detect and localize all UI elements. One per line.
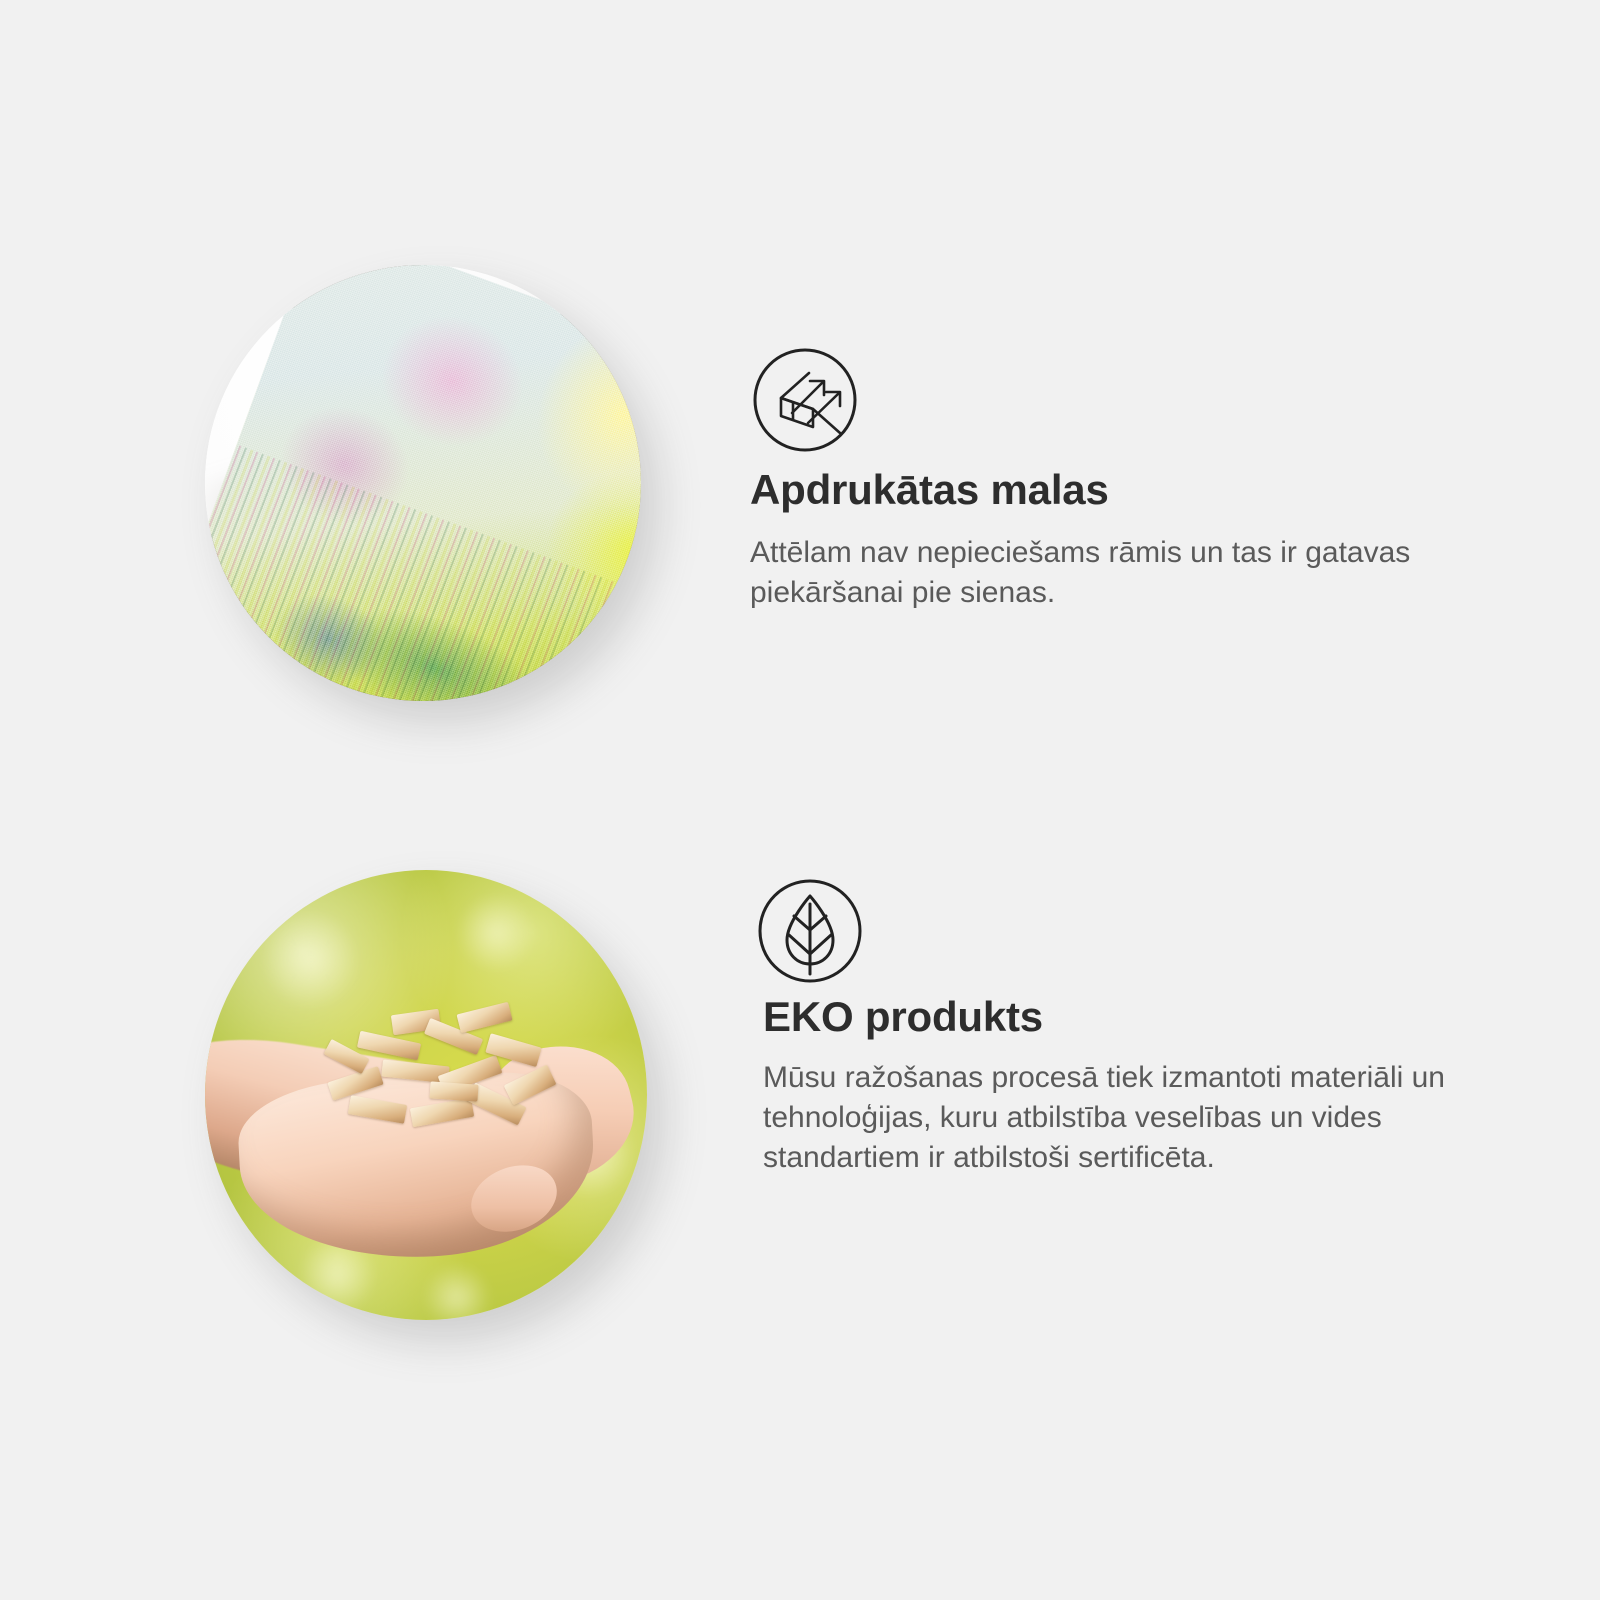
wood-chip [504, 1065, 556, 1105]
feature-body-printed-edges: Attēlam nav nepieciešams rāmis un tas ir… [750, 533, 1460, 613]
feature-body-eco-product: Mūsu ražošanas procesā tiek izmantoti ma… [763, 1058, 1488, 1178]
bokeh-highlight [461, 897, 532, 969]
hands-wood-chips-photo [205, 870, 647, 1320]
canvas-wrapped-edge-icon [752, 347, 858, 453]
wood-chip [347, 1095, 407, 1123]
feature-title-printed-edges: Apdrukātas malas [750, 466, 1109, 514]
feature-highlights-page: Apdrukātas malas Attēlam nav nepieciešam… [0, 0, 1600, 1600]
wood-chip-pile [320, 1005, 559, 1149]
canvas-printed-face [205, 265, 641, 701]
wood-chip [429, 1081, 478, 1102]
eco-photo-scene [205, 870, 647, 1320]
bokeh-highlight [426, 1266, 488, 1320]
canvas-corner-photo [205, 265, 641, 701]
wood-chip [457, 1002, 512, 1033]
feature-title-eco-product: EKO produkts [763, 993, 1043, 1041]
canvas-photo-scene [205, 265, 641, 701]
wood-chip [357, 1030, 421, 1060]
bokeh-highlight [267, 915, 355, 1005]
wood-chip [409, 1098, 473, 1127]
leaf-icon [757, 878, 863, 984]
